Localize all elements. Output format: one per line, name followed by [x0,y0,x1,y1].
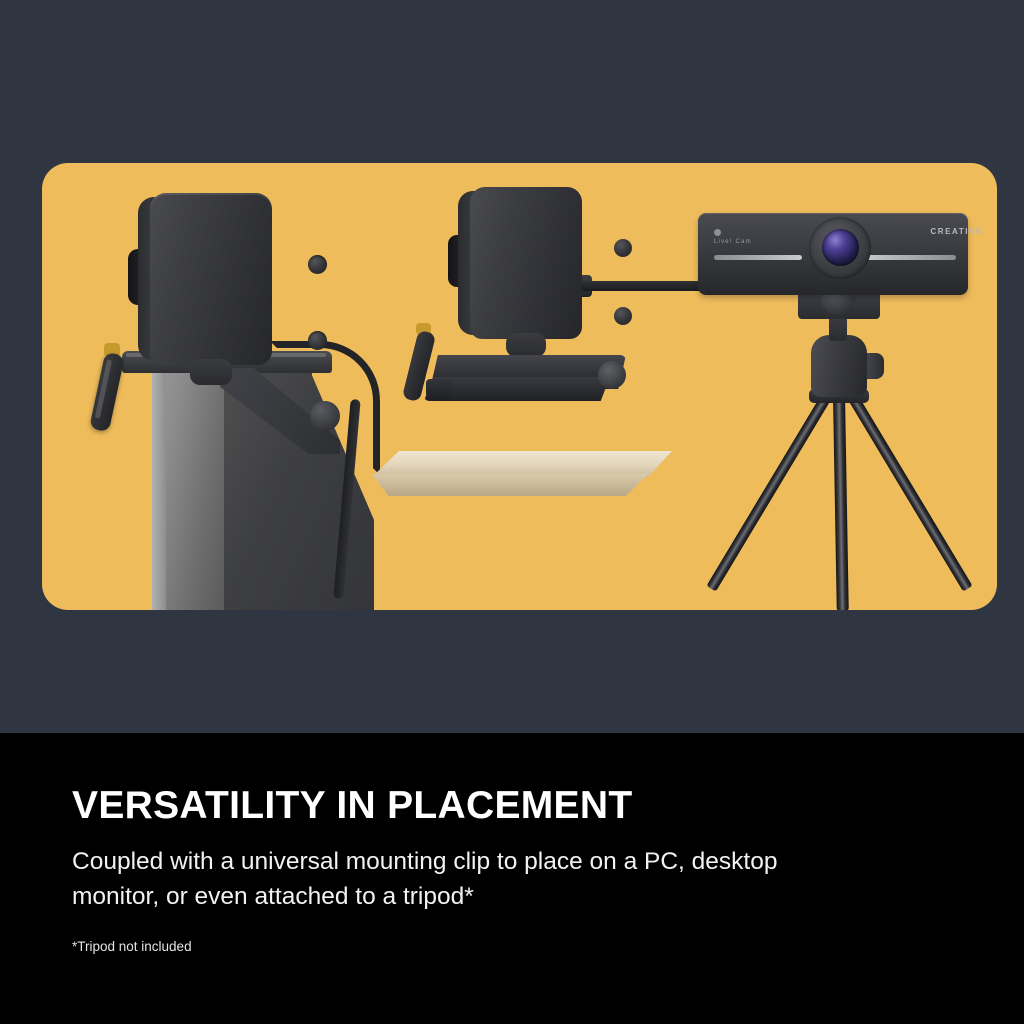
tripod-leg-center [833,395,849,610]
webcam-model-label: Live! Cam [714,239,752,245]
clip-toe [426,379,452,401]
clip-pivot-knob [598,361,626,389]
webcam-screw-top [614,239,632,257]
webcam-neck-joint [190,359,232,385]
brand-logo: CREATIVE [930,227,983,236]
tripod-mount-stem [829,317,847,341]
tripod-ball-head [811,335,867,397]
webcam-mic-left-icon [809,281,816,288]
headline: VERSATILITY IN PLACEMENT [72,784,632,828]
monitor-left-bezel [152,359,166,610]
webcam-accent-stripe-right [862,255,956,260]
webcam-body [150,193,272,365]
scene-desk-placement [372,163,702,610]
scene-tripod-mount: Live! Cam CREATIVE [670,163,997,610]
status-led-icon [714,229,721,236]
marketing-slide: Live! Cam CREATIVE VERSATILITY IN PLACEM… [0,0,1024,1024]
tripod-leg-right [847,392,973,591]
scene-monitor-mount [42,163,372,610]
webcam-neck-joint [506,333,546,357]
copy-section: VERSATILITY IN PLACEMENT Coupled with a … [0,733,1024,1024]
footnote: *Tripod not included [72,939,192,954]
clip-pivot-knob [310,401,340,431]
webcam-screw-bottom [308,331,327,350]
webcam-lens-glass [822,229,859,266]
webcam-mic-right-icon [864,281,871,288]
desk-edge [372,474,648,496]
hero-section: Live! Cam CREATIVE [0,0,1024,733]
webcam-body [470,187,582,339]
webcam-screw-bottom [614,307,632,325]
webcam-screw-top [308,255,327,274]
webcam-accent-stripe-left [714,255,802,260]
product-photo-stage: Live! Cam CREATIVE [42,163,997,610]
desk-surface [372,451,672,477]
body-copy: Coupled with a universal mounting clip t… [72,844,792,914]
tripod-leg-left [706,392,832,591]
